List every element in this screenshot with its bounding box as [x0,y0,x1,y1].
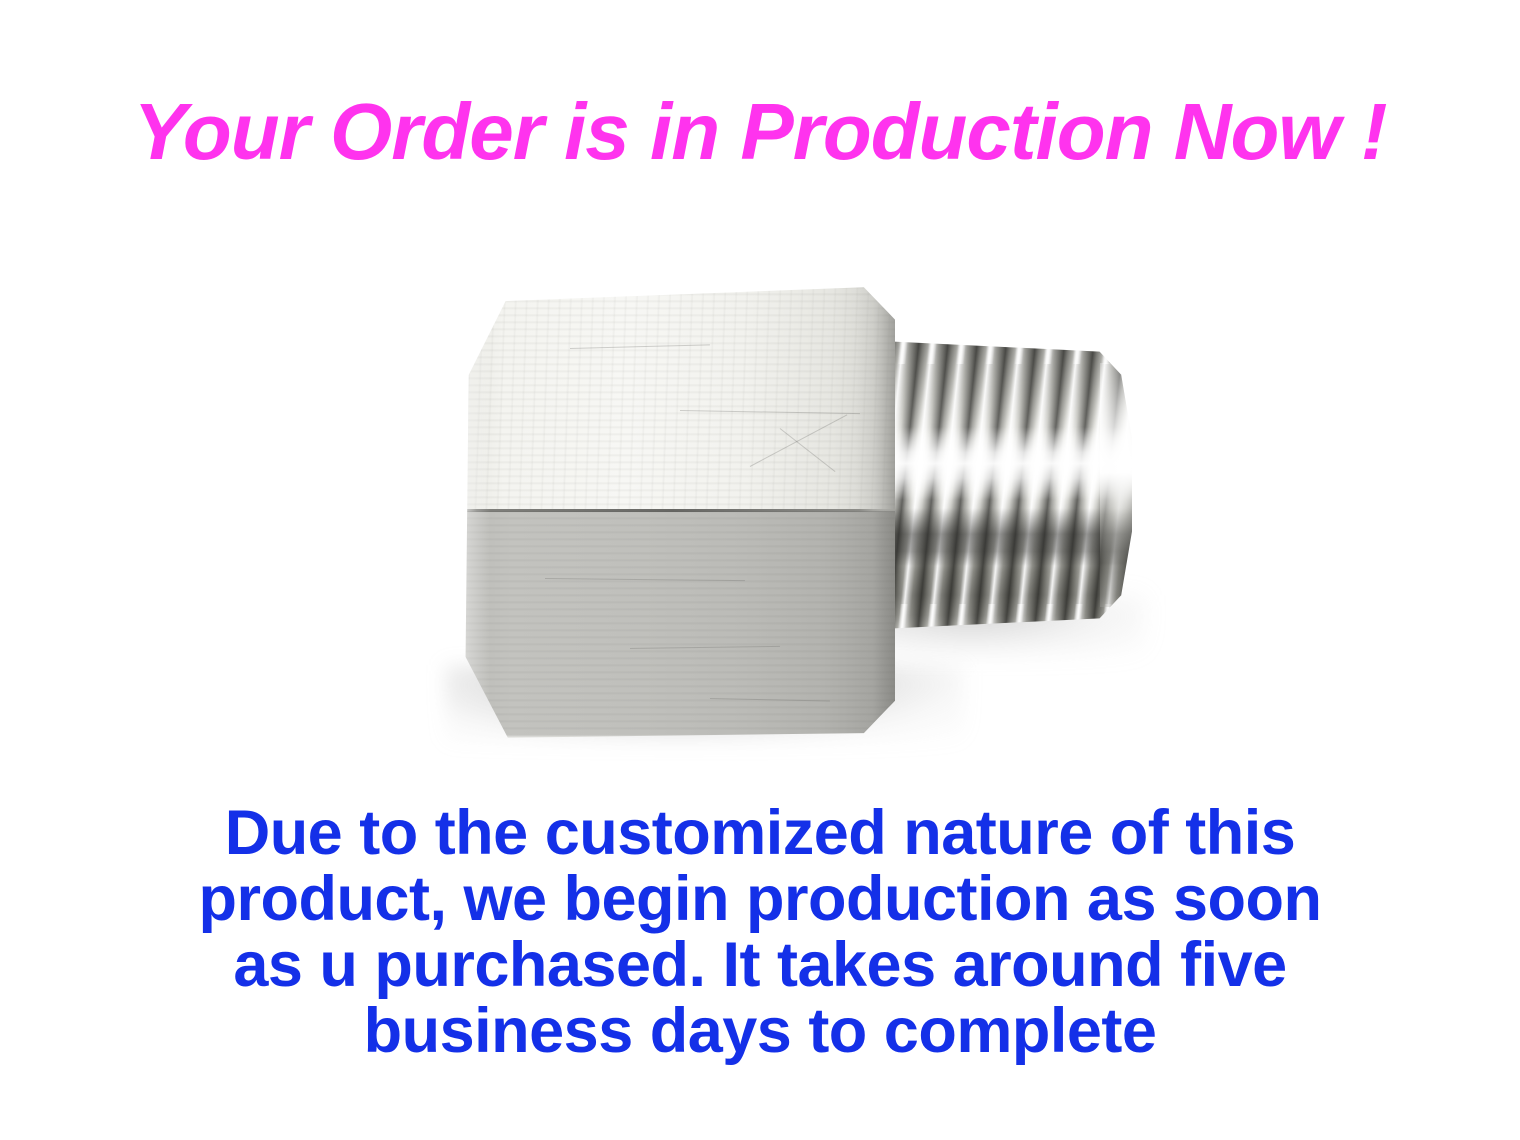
body-copy-line: as u purchased. It takes around five [0,932,1520,998]
threaded-male-end [862,340,1132,630]
body-copy-line: Due to the customized nature of this [0,800,1520,866]
thread-end-cap [1100,363,1132,607]
hex-right-shoulder [855,278,895,740]
hex-facet-edge [450,509,895,512]
body-copy: Due to the customized nature of this pro… [0,800,1520,1064]
thread-crest-top [862,340,1132,364]
hex-top-rim [477,278,891,283]
hex-body [450,278,895,740]
promo-image-canvas: Your Order is in Production Now ! [0,0,1520,1140]
product-photo [400,240,1200,760]
body-copy-line: business days to complete [0,998,1520,1064]
page-title: Your Order is in Production Now ! [0,92,1520,172]
thread-specular-highlight [862,427,1132,500]
thread-shadow-band [862,508,1132,566]
body-copy-line: product, we begin production as soon [0,866,1520,932]
machining-striations-fine [450,278,895,509]
